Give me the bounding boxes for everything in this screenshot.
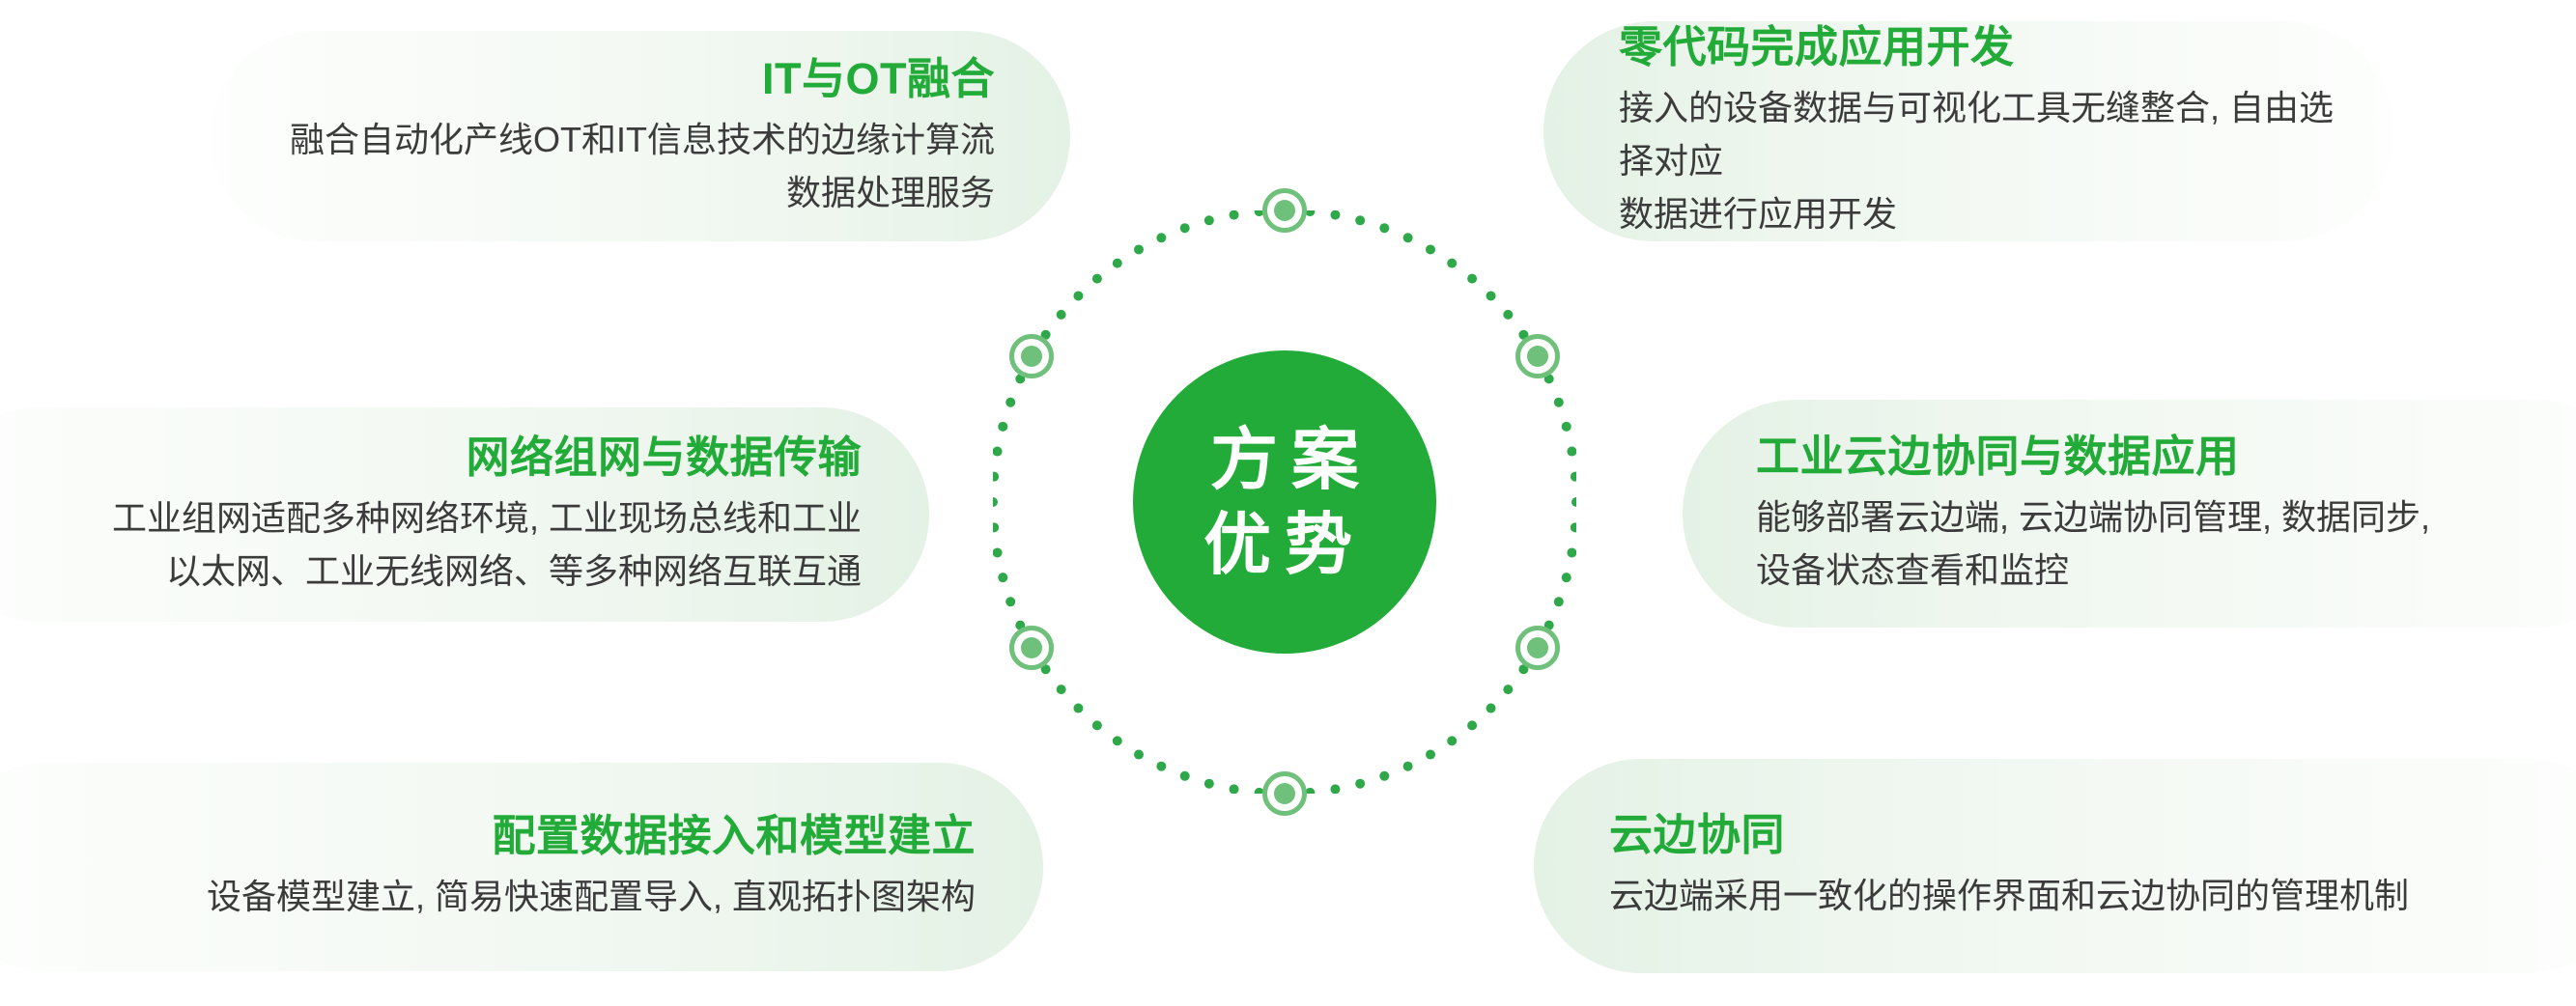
- advantage-card-it-ot: IT与OT融合 融合自动化产线OT和IT信息技术的边缘计算流 数据处理服务: [211, 31, 1070, 241]
- advantage-card-title: 零代码完成应用开发: [1619, 21, 2335, 72]
- infographic-canvas: IT与OT融合 融合自动化产线OT和IT信息技术的边缘计算流 数据处理服务 零代…: [0, 0, 2576, 1006]
- node-bottom-right-icon: [1515, 334, 1560, 378]
- node-bottom-left-icon: [1515, 626, 1560, 670]
- advantage-card-zero-code: 零代码完成应用开发 接入的设备数据与可视化工具无缝整合, 自由选择对应 数据进行…: [1543, 21, 2393, 241]
- advantage-card-title: IT与OT融合: [288, 53, 995, 104]
- advantage-card-title: 配置数据接入和模型建立: [10, 810, 976, 861]
- advantage-card-title: 云边协同: [1609, 809, 2576, 860]
- node-right-icon: [1262, 188, 1307, 233]
- advantage-card-title: 工业云边协同与数据应用: [1756, 431, 2576, 482]
- advantage-card-body: 接入的设备数据与可视化工具无缝整合, 自由选择对应 数据进行应用开发: [1619, 82, 2335, 240]
- center-label: 方案 优势: [1197, 417, 1373, 587]
- advantage-card-title: 网络组网与数据传输: [0, 432, 862, 483]
- advantage-card-body: 设备模型建立, 简易快速配置导入, 直观拓扑图架构: [10, 871, 976, 924]
- advantage-card-network: 网络组网与数据传输 工业组网适配多种网络环境, 工业现场总线和工业 以太网、工业…: [0, 407, 929, 622]
- advantage-card-body: 能够部署云边端, 云边端协同管理, 数据同步, 设备状态查看和监控: [1756, 491, 2576, 597]
- advantage-card-model: 配置数据接入和模型建立 设备模型建立, 简易快速配置导入, 直观拓扑图架构: [0, 763, 1043, 971]
- advantage-card-body: 工业组网适配多种网络环境, 工业现场总线和工业 以太网、工业无线网络、等多种网络…: [0, 492, 862, 598]
- node-left-icon: [1262, 771, 1307, 816]
- advantage-card-cloud-edge-data: 工业云边协同与数据应用 能够部署云边端, 云边端协同管理, 数据同步, 设备状态…: [1683, 400, 2576, 628]
- advantage-card-body: 云边端采用一致化的操作界面和云边协同的管理机制: [1609, 870, 2576, 923]
- center-circle: 方案 优势: [1133, 350, 1436, 654]
- advantage-card-cloud-edge: 云边协同 云边端采用一致化的操作界面和云边协同的管理机制: [1534, 759, 2576, 973]
- advantage-card-body: 融合自动化产线OT和IT信息技术的边缘计算流 数据处理服务: [288, 114, 995, 219]
